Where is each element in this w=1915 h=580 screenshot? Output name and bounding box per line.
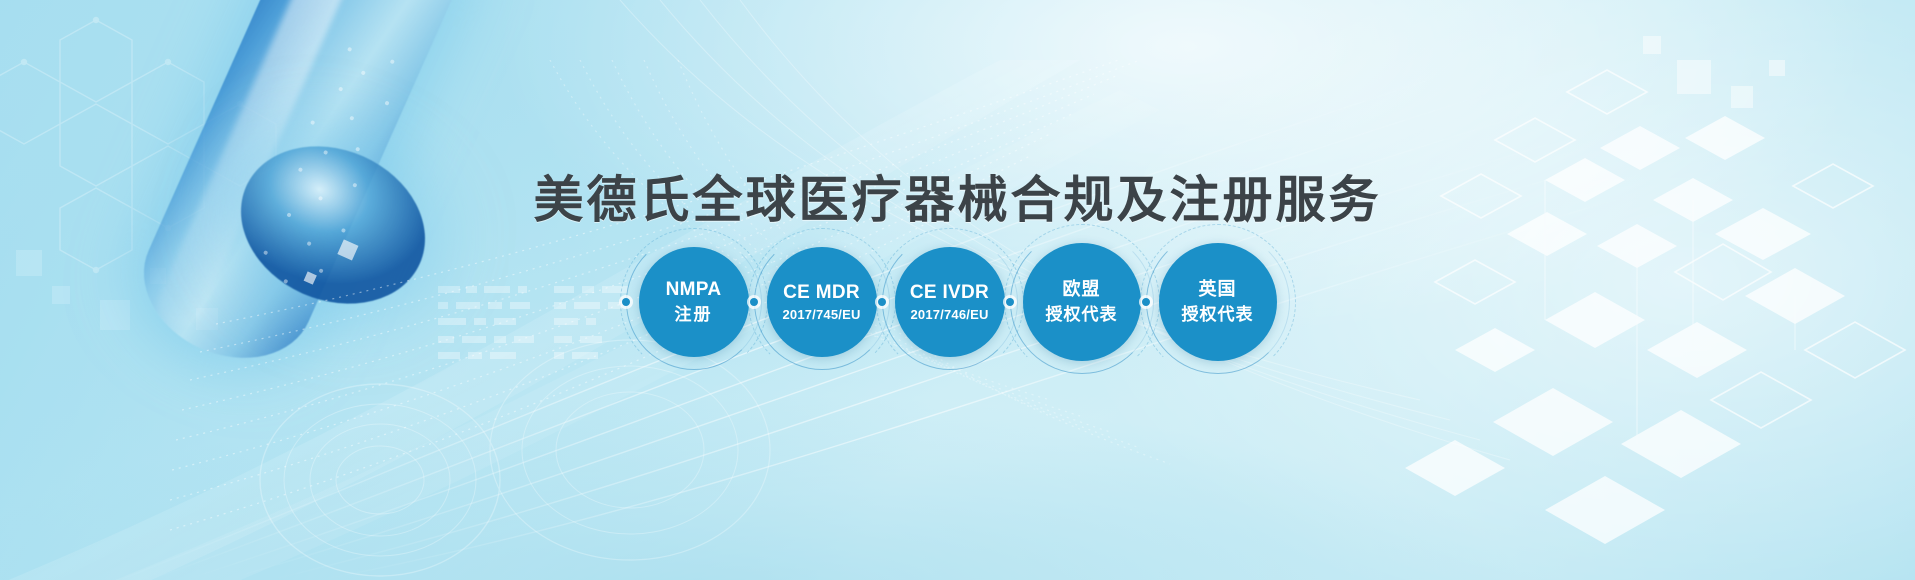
badge-node-dot-icon xyxy=(1142,298,1150,306)
badge-ce-ivdr[interactable]: CE IVDR 2017/746/EU xyxy=(895,247,1005,357)
badge-ce-ivdr-secondary: 2017/746/EU xyxy=(910,307,988,322)
badge-ce-mdr-primary: CE MDR xyxy=(783,282,860,304)
badge-ce-ivdr-primary: CE IVDR xyxy=(910,282,989,304)
badge-uk-primary: 英国 xyxy=(1199,279,1237,300)
badge-node-dot-icon xyxy=(1006,298,1014,306)
badge-eu-authorized-representative[interactable]: 欧盟 授权代表 xyxy=(1023,243,1141,361)
page-title: 美德氏全球医疗器械合规及注册服务 xyxy=(0,160,1915,232)
badge-eu-secondary: 授权代表 xyxy=(1046,305,1118,325)
badge-orbit-ring-icon xyxy=(1146,230,1290,374)
badge-ce-mdr-secondary: 2017/745/EU xyxy=(782,307,860,322)
badge-row: NMPA 注册 CE MDR 2017/745/EU CE IVDR 2017/… xyxy=(0,243,1915,361)
badge-orbit-ring-icon xyxy=(626,234,762,370)
badge-ce-mdr[interactable]: CE MDR 2017/745/EU xyxy=(767,247,877,357)
badge-nmpa-secondary: 注册 xyxy=(675,305,713,325)
badge-orbit-dashed-icon xyxy=(620,228,768,376)
badge-node-dot-icon xyxy=(878,298,886,306)
badge-orbit-dashed-icon xyxy=(1004,224,1160,380)
badge-node-dot-icon xyxy=(622,298,630,306)
badge-eu-primary: 欧盟 xyxy=(1063,279,1101,300)
badge-orbit-ring-icon xyxy=(1010,230,1154,374)
badge-orbit-dashed-icon xyxy=(1140,224,1296,380)
banner-root: 美德氏全球医疗器械合规及注册服务 NMPA 注册 CE MDR 2017/745… xyxy=(0,0,1915,580)
badge-uk-responsible-person[interactable]: 英国 授权代表 xyxy=(1159,243,1277,361)
badge-nmpa[interactable]: NMPA 注册 xyxy=(639,247,749,357)
concentric-tech-rings-graphic xyxy=(230,330,850,580)
badge-uk-secondary: 授权代表 xyxy=(1182,305,1254,325)
badge-node-dot-icon xyxy=(750,298,758,306)
badge-nmpa-primary: NMPA xyxy=(666,279,722,301)
